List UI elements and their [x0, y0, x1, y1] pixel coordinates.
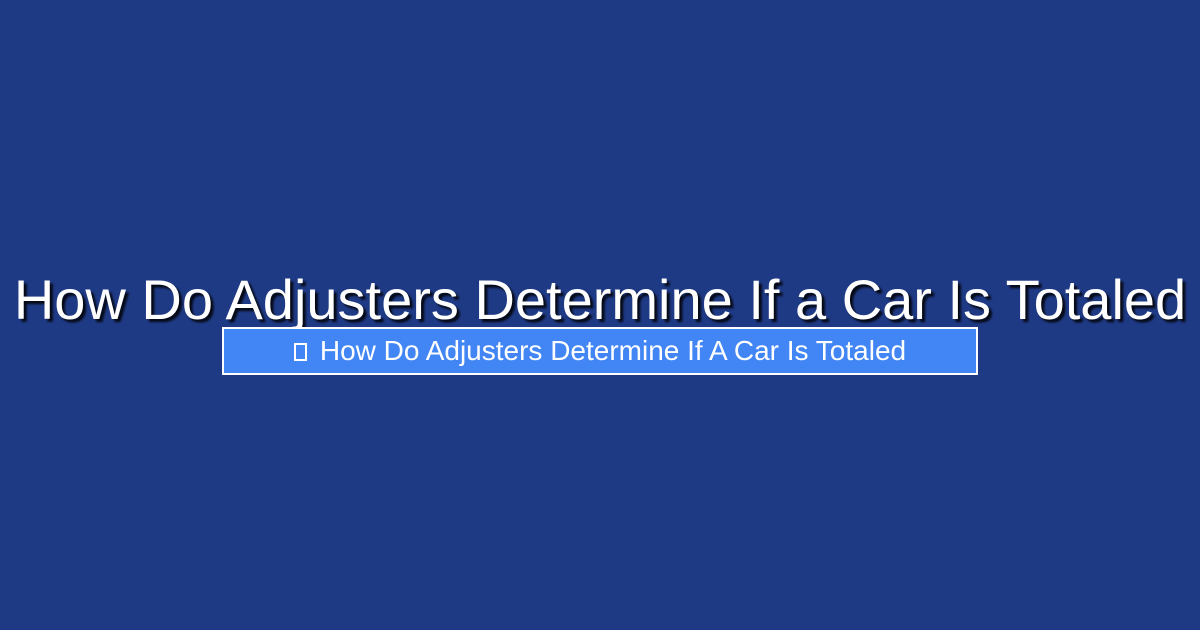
social-share-card: How Do Adjusters Determine If a Car Is T… — [0, 0, 1200, 630]
cta-button-label: How Do Adjusters Determine If A Car Is T… — [320, 335, 906, 367]
cta-button[interactable]: How Do Adjusters Determine If A Car Is T… — [222, 327, 978, 375]
page-title: How Do Adjusters Determine If a Car Is T… — [0, 268, 1200, 332]
cta-content: How Do Adjusters Determine If A Car Is T… — [294, 335, 906, 367]
missing-glyph-box-icon — [294, 343, 307, 361]
